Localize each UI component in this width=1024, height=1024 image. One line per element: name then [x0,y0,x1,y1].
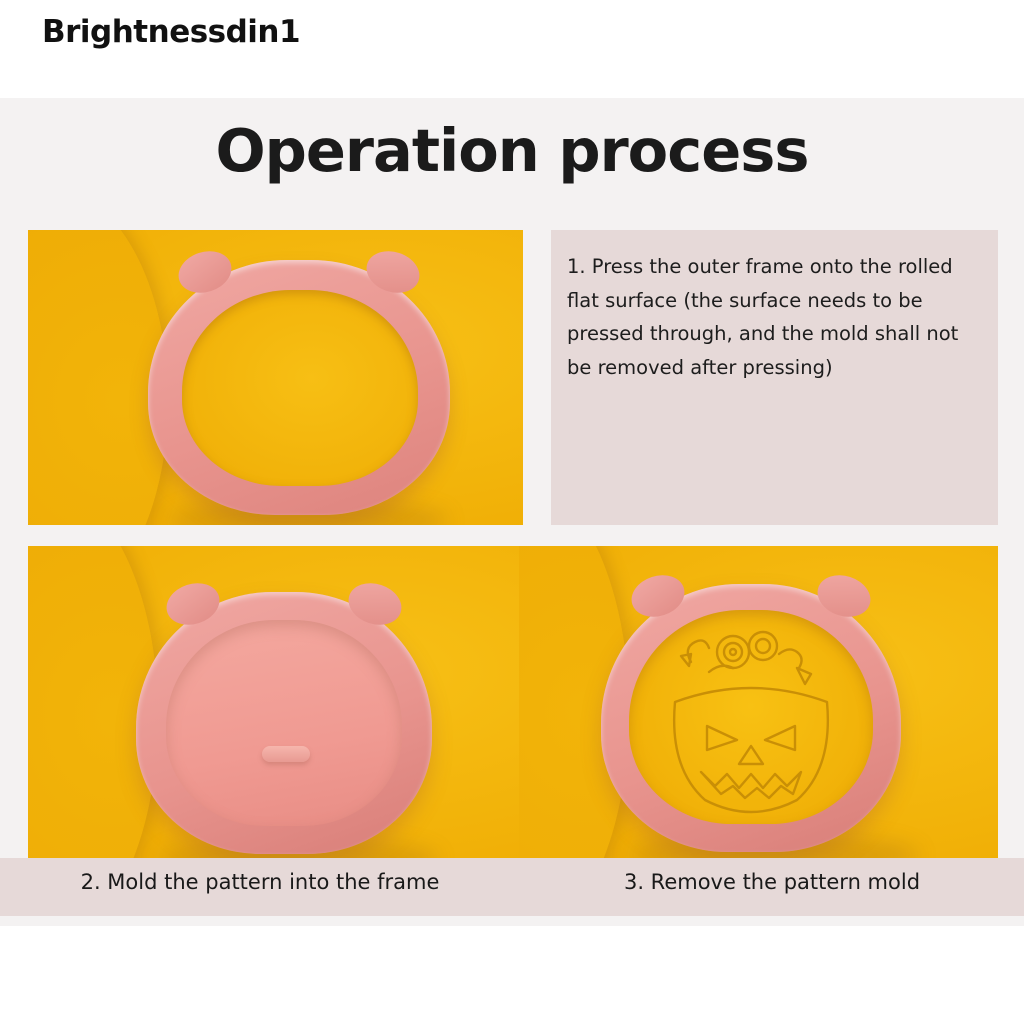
frame-right-bump-2 [343,577,407,632]
plunger-stamp [166,620,402,826]
frame-left-bump-2 [161,577,225,632]
dough-surface-2 [28,546,523,858]
caption-strip: 2. Mold the pattern into the frame 3. Re… [0,858,1024,916]
frame-opening [182,290,418,486]
frame-left-bump [173,245,237,300]
dough-surface-3 [519,546,998,858]
cookie-cutter-frame [148,260,450,515]
page-title: Operation process [0,116,1024,185]
operation-process-panel: Operation process 1. Press the outer fra… [0,98,1024,926]
step-3-caption: 3. Remove the pattern mold [520,870,1024,894]
dough-round-edge [28,230,168,525]
plunger-handle-nub [262,746,310,762]
jack-o-lantern-pattern-icon [629,610,873,824]
step-2-photo [28,546,523,858]
step-1-photo [28,230,523,525]
step-1-instruction-box: 1. Press the outer frame onto the rolled… [551,230,998,525]
dough-surface [28,230,523,525]
step-2-caption: 2. Mold the pattern into the frame [0,870,520,894]
frame-right-bump [361,245,425,300]
step-1-instruction-text: 1. Press the outer frame onto the rolled… [567,250,985,384]
step-3-photo [519,546,998,858]
seller-watermark: Brightnessdin1 [42,14,300,50]
embossed-dough [629,610,873,824]
cookie-cutter-frame-2 [136,592,432,854]
cookie-cutter-frame-3 [601,584,901,852]
